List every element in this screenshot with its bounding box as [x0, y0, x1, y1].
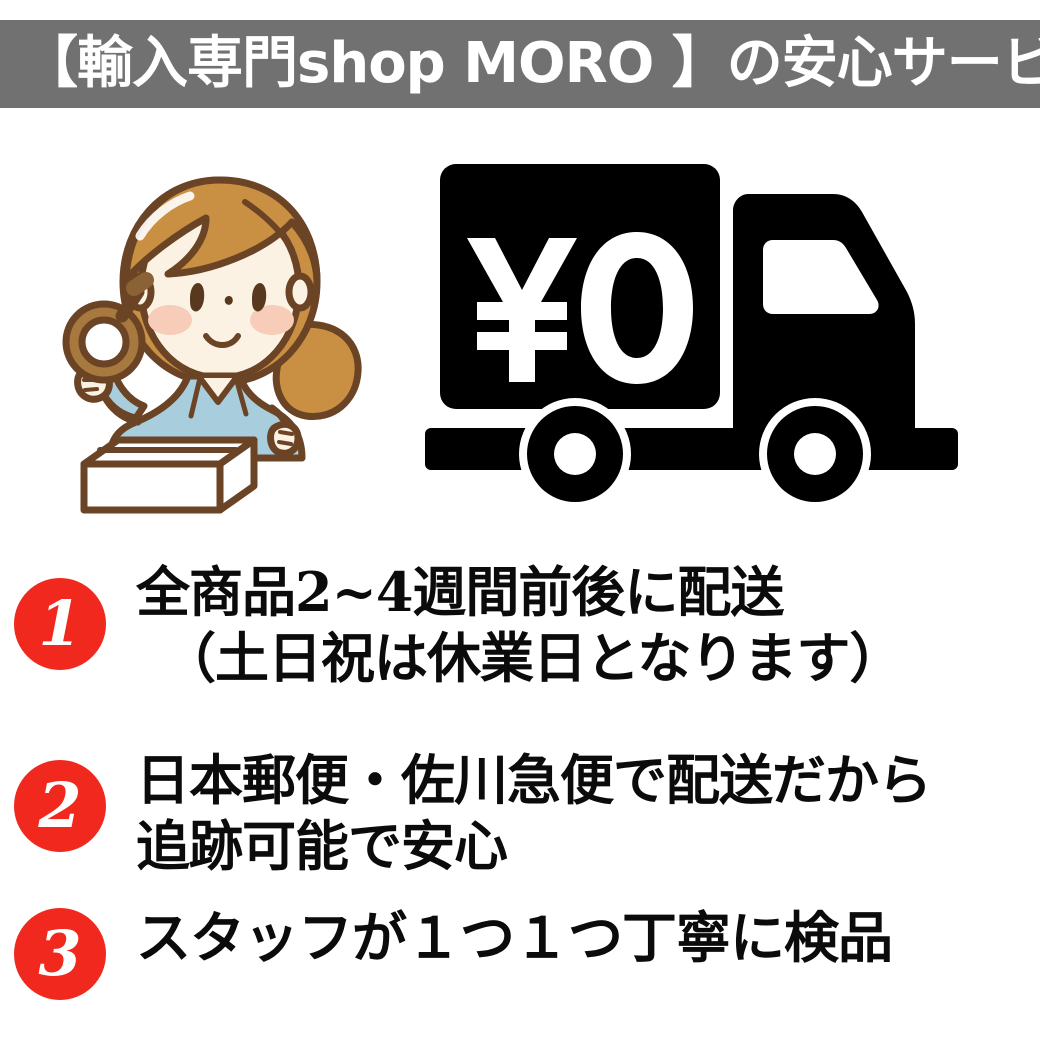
- feature-item-1: 1 全商品2~4週間前後に配送 （土日祝は休業日となります）: [0, 560, 1040, 692]
- feature-line-1-1: 全商品2~4週間前後に配送: [136, 560, 1040, 626]
- feature-item-3: 3 スタッフが１つ１つ丁寧に検品: [0, 900, 1040, 1000]
- feature-number-badge-2: 2: [14, 760, 106, 852]
- feature-list: 1 全商品2~4週間前後に配送 （土日祝は休業日となります） 2 日本郵便・佐川…: [0, 548, 1040, 1040]
- free-shipping-truck-icon: [415, 142, 1025, 517]
- header-banner: 【輸入専門shop MORO 】の安心サービス: [0, 20, 1040, 108]
- page-title: 【輸入専門shop MORO 】の安心サービス: [22, 36, 1040, 92]
- feature-line-2-1: 日本郵便・佐川急便で配送だから: [136, 748, 1040, 814]
- illustration-area: [0, 120, 1040, 535]
- feature-text-1: 全商品2~4週間前後に配送 （土日祝は休業日となります）: [106, 560, 1040, 692]
- staff-inspecting-package-illustration: [40, 140, 400, 520]
- feature-line-1-2: （土日祝は休業日となります）: [136, 626, 1040, 692]
- feature-text-3: スタッフが１つ１つ丁寧に検品: [106, 900, 1040, 971]
- feature-number-badge-3: 3: [14, 908, 106, 1000]
- promo-banner-page: 【輸入専門shop MORO 】の安心サービス: [0, 0, 1040, 1040]
- feature-line-2-2: 追跡可能で安心: [136, 814, 1040, 880]
- feature-item-2: 2 日本郵便・佐川急便で配送だから 追跡可能で安心: [0, 748, 1040, 880]
- feature-line-3-1: スタッフが１つ１つ丁寧に検品: [136, 904, 1040, 971]
- feature-number-badge-1: 1: [14, 578, 106, 670]
- feature-text-2: 日本郵便・佐川急便で配送だから 追跡可能で安心: [106, 748, 1040, 880]
